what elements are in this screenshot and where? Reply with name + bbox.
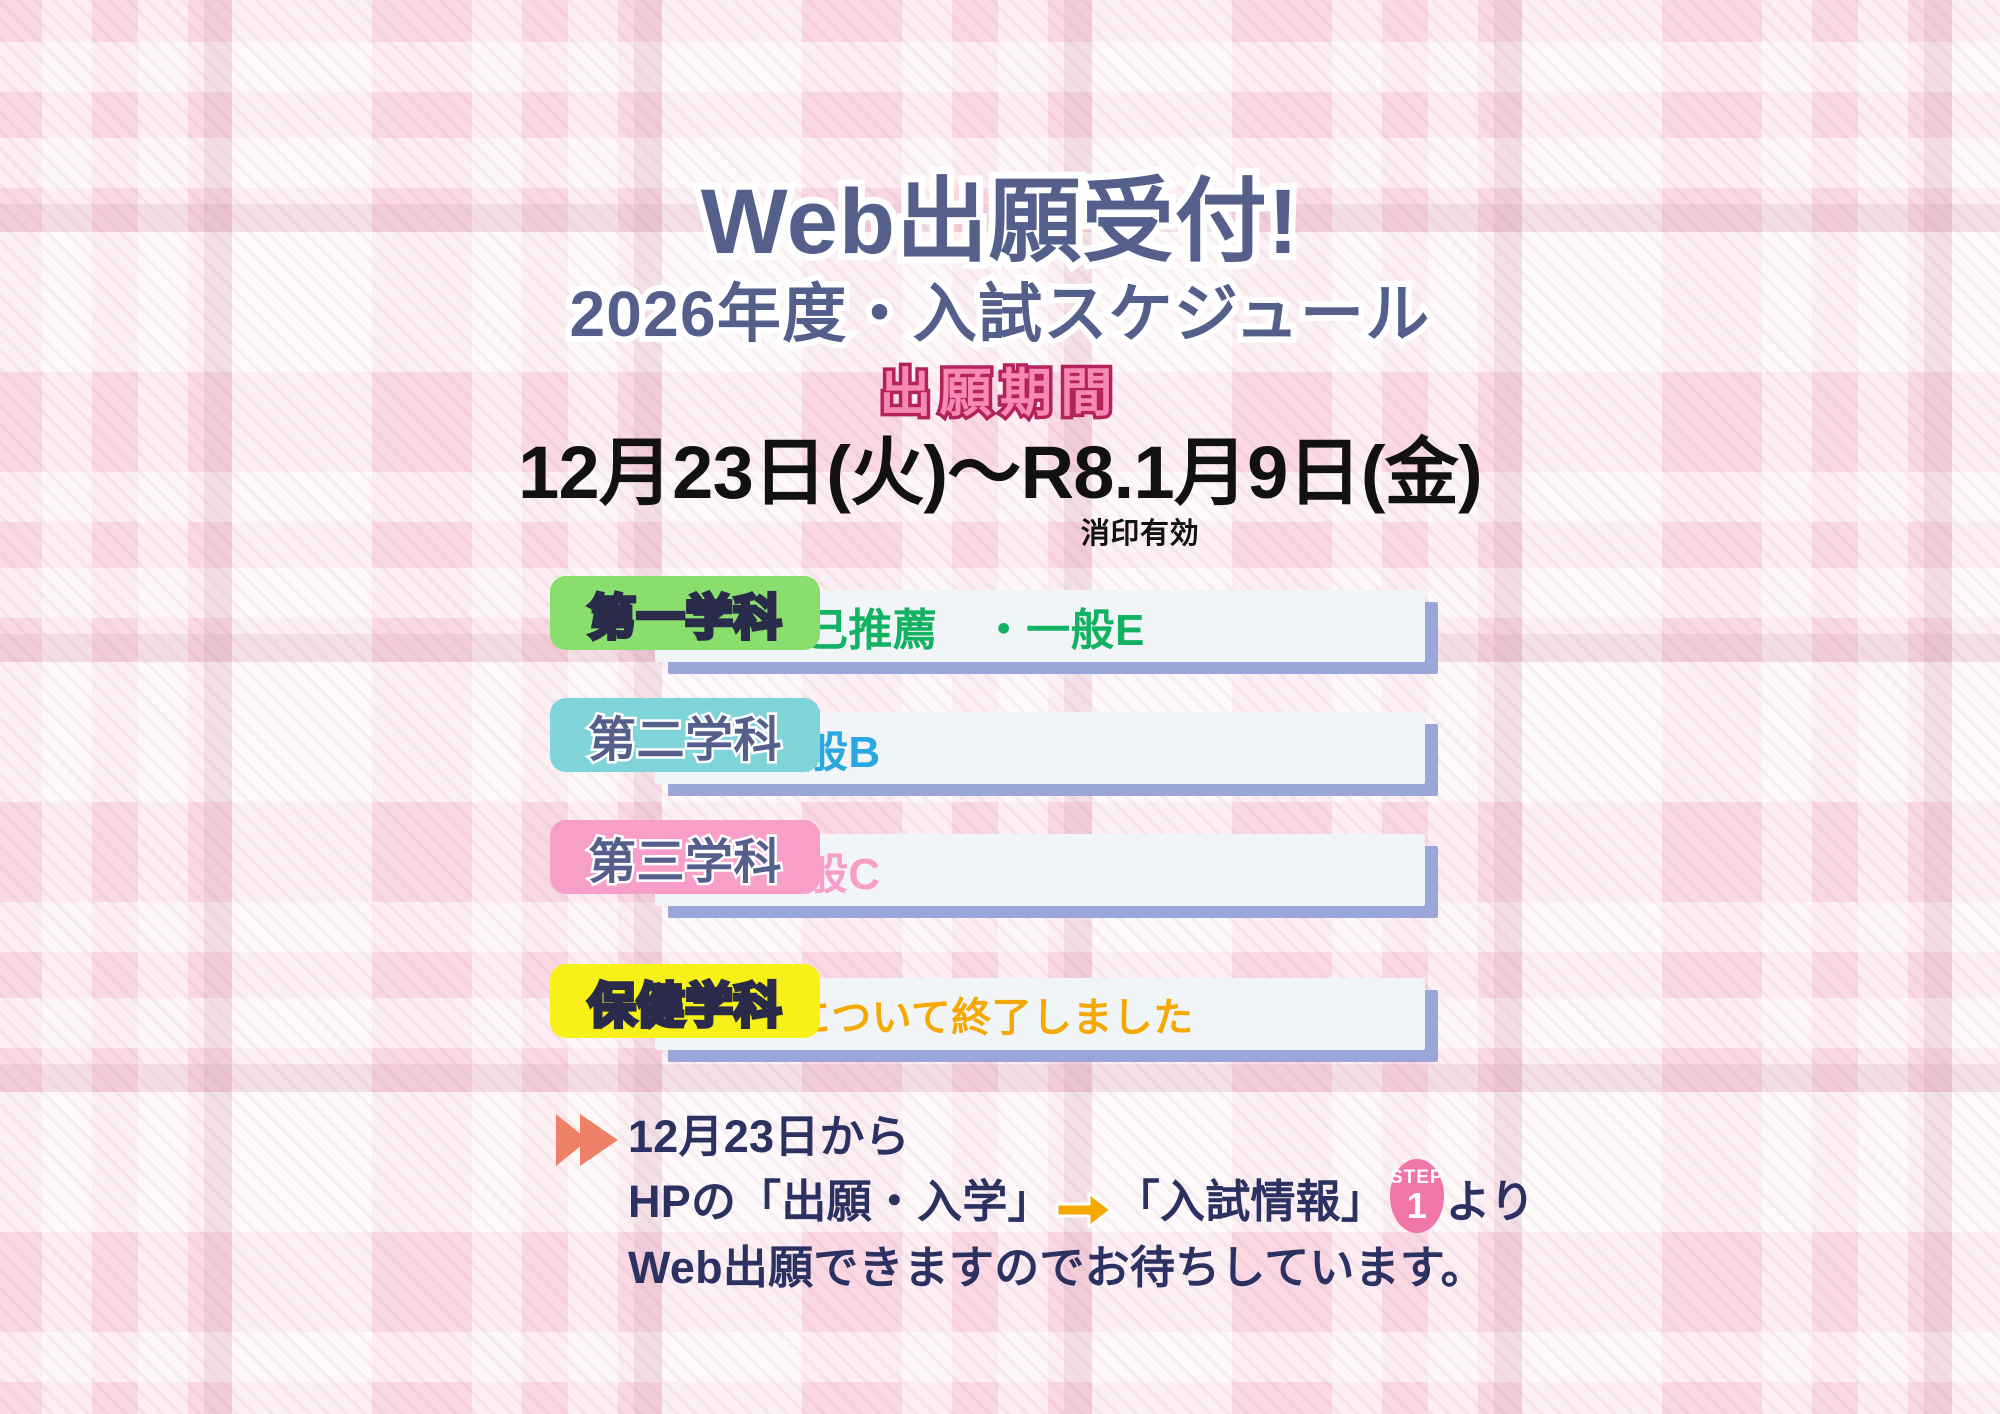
department-row-1: ・自己推薦 ・一般E 第一学科 [550,576,1450,686]
right-arrow-icon [1055,1186,1113,1226]
poster-canvas: Web出願受付! 2026年度・入試スケジュール 出願期間 12月23日(火)～… [0,0,2000,1414]
page-subtitle: 2026年度・入試スケジュール [569,282,1430,346]
footer-line-3: Web出願できますのでお待ちしています。 [628,1239,1450,1297]
footer-line-1: 12月23日から [628,1108,1450,1166]
postmark-note: 消印有効 [0,510,2000,552]
double-triangle-icon [556,1112,626,1168]
page-title: Web出願受付! [701,176,1300,268]
step-badge-number: 1 [1407,1188,1427,1224]
department-badge-3: 第三学科 [550,820,820,894]
department-row-2: ・一般B 第二学科 [550,698,1450,808]
department-badge-4: 保健学科 [550,964,820,1038]
department-badge-2: 第二学科 [550,698,820,772]
footer-line-2-part2: 「入試情報」 [1115,1173,1386,1231]
step-badge: STEP 1 [1390,1159,1443,1233]
department-row-3: ・一般C 第三学科 [550,820,1450,930]
poster-content: Web出願受付! 2026年度・入試スケジュール 出願期間 12月23日(火)～… [0,0,2000,1414]
footer-instructions: 12月23日から HPの「出願・入学」 「入試情報」 STEP 1 より Web… [550,1108,1450,1297]
department-badge-1: 第一学科 [550,576,820,650]
footer-line-2-part3: より [1446,1173,1536,1231]
footer-line-2: HPの「出願・入学」 「入試情報」 STEP 1 より [628,1165,1450,1239]
footer-line-2-part1: HPの「出願・入学」 [628,1173,1053,1231]
department-list: ・自己推薦 ・一般E 第一学科 ・一般B 第二学科 ・一般C 第三学科 [0,576,2000,1086]
department-row-4: 募集について終了しました 保健学科 [550,964,1450,1074]
application-period-label: 出願期間 [879,368,1120,420]
application-period-dates: 12月23日(火)～R8.1月9日(金) [518,434,1482,512]
